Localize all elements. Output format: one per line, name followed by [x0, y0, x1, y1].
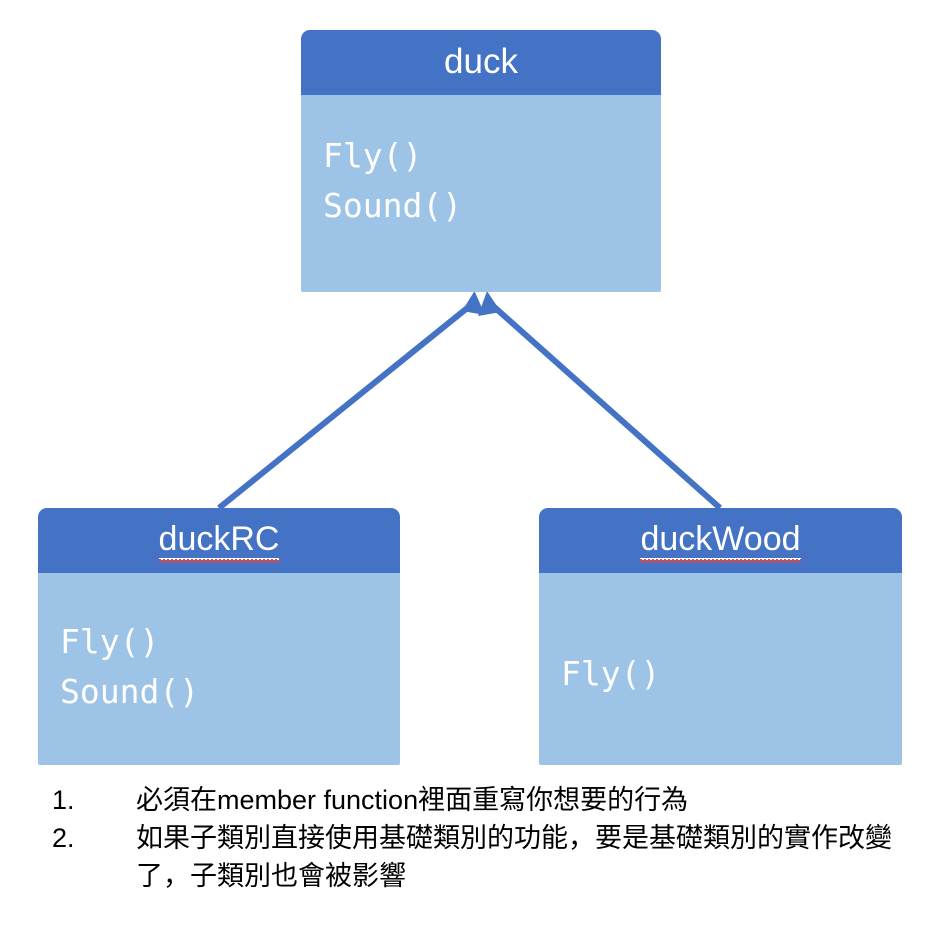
uml-class-duckrc-header: duckRC	[38, 508, 400, 573]
note-marker: 2.	[52, 820, 136, 858]
uml-class-duckwood-body: Fly()	[539, 573, 902, 765]
uml-class-duckrc-title: duckRC	[159, 522, 280, 560]
uml-class-duckwood-title: duckWood	[640, 522, 800, 560]
uml-class-duckwood[interactable]: duckWood Fly()	[539, 508, 902, 765]
list-item: 1. 必須在member function裡面重寫你想要的行為	[52, 782, 932, 820]
uml-class-duckrc-body: Fly() Sound()	[38, 573, 400, 765]
arrow-duckwood-to-duck	[478, 291, 720, 508]
uml-class-duck-title: duck	[444, 44, 518, 81]
uml-class-duckrc-methods: Fly() Sound()	[60, 617, 392, 718]
list-item: 2. 如果子類別直接使用基礎類別的功能，要是基礎類別的實作改變了，子類別也會被影…	[52, 820, 932, 896]
uml-class-duck-methods: Fly() Sound()	[323, 131, 653, 232]
note-text: 如果子類別直接使用基礎類別的功能，要是基礎類別的實作改變了，子類別也會被影響	[136, 820, 932, 896]
uml-class-duckrc[interactable]: duckRC Fly() Sound()	[38, 508, 400, 765]
uml-class-duck-header: duck	[301, 30, 661, 95]
uml-class-duckwood-methods: Fly()	[561, 649, 894, 699]
notes-list: 1. 必須在member function裡面重寫你想要的行為 2. 如果子類別…	[52, 782, 932, 895]
arrow-duckrc-to-duck	[219, 291, 485, 508]
note-text: 必須在member function裡面重寫你想要的行為	[136, 782, 932, 820]
uml-class-duckwood-header: duckWood	[539, 508, 902, 573]
uml-class-duck[interactable]: duck Fly() Sound()	[301, 30, 661, 292]
diagram-canvas: duck Fly() Sound() duckRC Fly() Sound() …	[0, 0, 939, 940]
uml-class-duck-body: Fly() Sound()	[301, 95, 661, 292]
note-marker: 1.	[52, 782, 136, 820]
